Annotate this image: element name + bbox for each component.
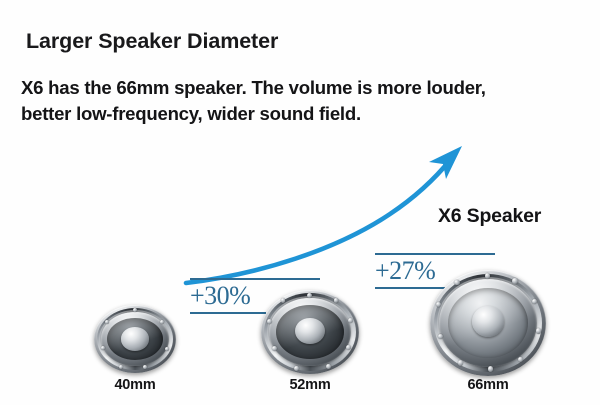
- speaker-dome: [295, 318, 324, 344]
- infographic-canvas: Larger Speaker Diameter X6 has the 66mm …: [0, 0, 600, 405]
- speaker-dome: [472, 306, 504, 337]
- speaker-66mm: [430, 270, 546, 376]
- speaker-bolt: [267, 319, 272, 324]
- speaker-bolt: [512, 278, 517, 284]
- speaker-bolt: [348, 318, 353, 323]
- speaker-bolt: [454, 280, 459, 286]
- speaker-dome: [121, 327, 149, 350]
- gain-rule-bottom: [375, 287, 445, 289]
- speaker-bolt: [307, 293, 312, 298]
- description-text: X6 has the 66mm speaker. The volume is m…: [21, 75, 581, 127]
- speaker-bolt: [458, 360, 463, 366]
- speaker-bolt: [326, 364, 331, 369]
- speaker-bolt: [119, 365, 123, 369]
- speaker-bolt: [105, 320, 109, 324]
- description-line-2: better low-frequency, wider sound field.: [21, 101, 581, 127]
- x6-speaker-callout: X6 Speaker: [438, 205, 541, 228]
- speaker-52mm: [261, 290, 359, 374]
- speaker-bolt: [485, 273, 490, 279]
- speaker-bolt: [272, 346, 277, 351]
- description-line-1: X6 has the 66mm speaker. The volume is m…: [21, 75, 581, 101]
- speaker-size-label-66mm: 66mm: [430, 377, 546, 393]
- speaker-bolt: [133, 308, 137, 312]
- gain-badge-30: +30%: [190, 283, 250, 309]
- gain-badge-27: +27%: [375, 258, 435, 284]
- speaker-bolt: [101, 346, 105, 350]
- gain-rule-bottom: [190, 312, 266, 314]
- page-title: Larger Speaker Diameter: [26, 29, 278, 54]
- speaker-40mm: [94, 305, 176, 373]
- speaker-bolt: [160, 320, 164, 324]
- gain-value: +30%: [190, 283, 250, 309]
- speaker-bolt: [536, 328, 541, 334]
- gain-value: +27%: [375, 258, 435, 284]
- gain-rule-top: [375, 253, 495, 255]
- gain-rule-top: [190, 278, 320, 280]
- speaker-bolt: [165, 347, 169, 351]
- speaker-size-label-52mm: 52mm: [261, 377, 359, 393]
- speaker-size-label-40mm: 40mm: [94, 377, 176, 393]
- speaker-bolt: [294, 366, 299, 371]
